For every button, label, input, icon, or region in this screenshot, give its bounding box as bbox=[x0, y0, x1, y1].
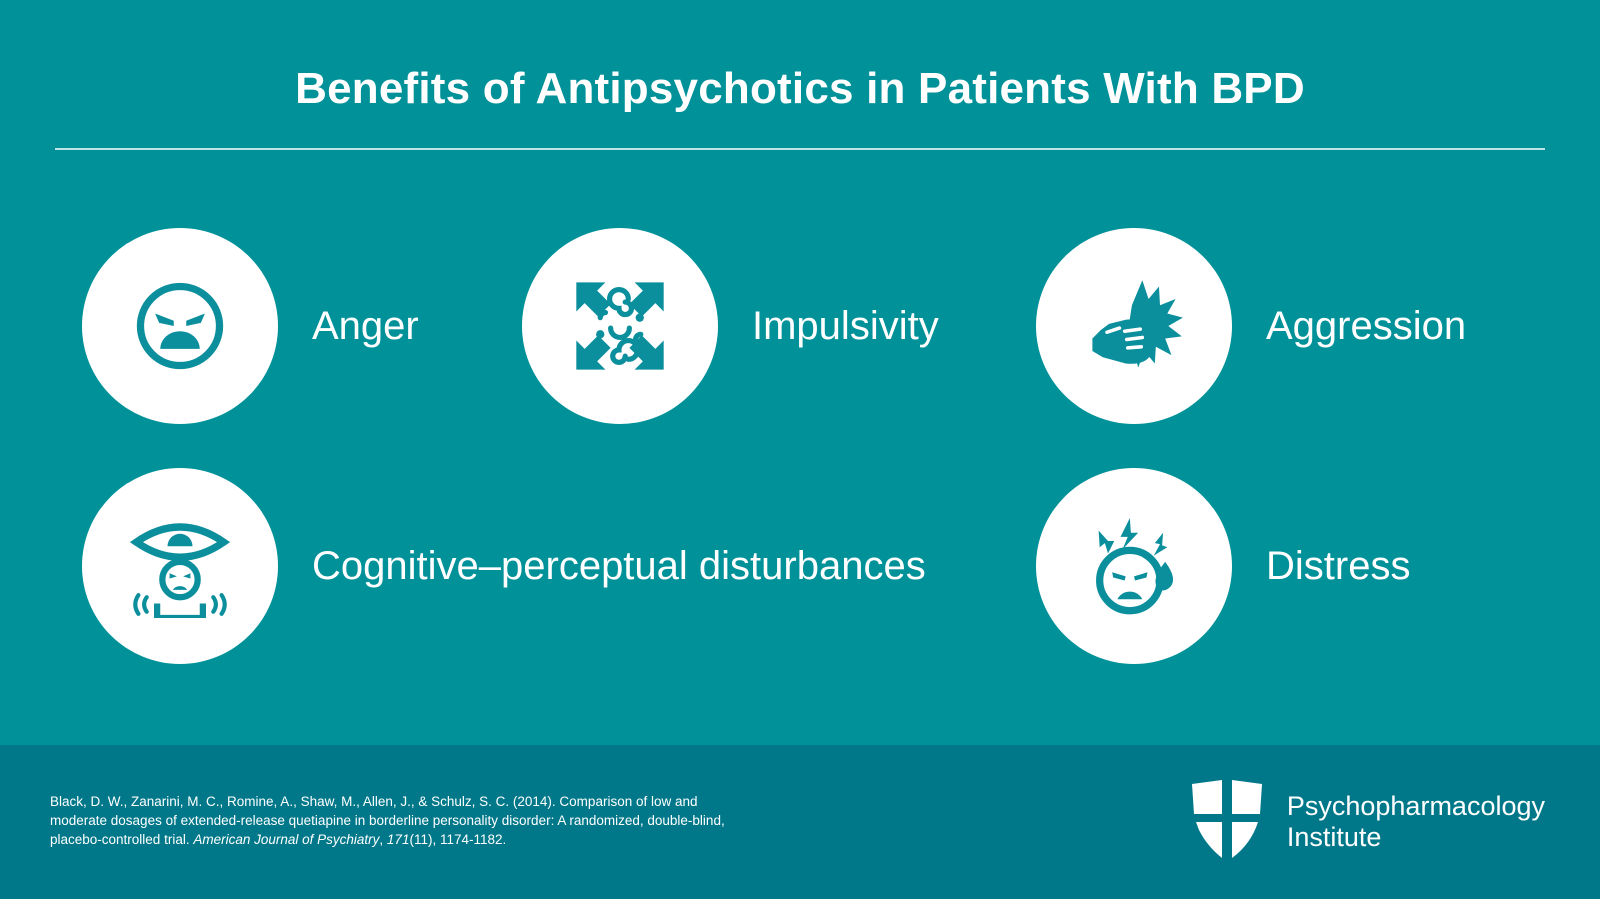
title-divider bbox=[55, 148, 1545, 150]
benefit-label-cognitive-perceptual: Cognitive–perceptual disturbances bbox=[312, 544, 926, 588]
icon-circle-distress bbox=[1036, 468, 1232, 664]
eye-over-face-icon bbox=[128, 514, 232, 618]
title-block: Benefits of Antipsychotics in Patients W… bbox=[0, 64, 1600, 113]
slide-canvas: Benefits of Antipsychotics in Patients W… bbox=[0, 0, 1600, 899]
citation-journal-name: American Journal of Psychiatry bbox=[193, 832, 379, 847]
benefits-row-2: Cognitive–perceptual disturbances bbox=[0, 446, 1600, 686]
benefits-grid: Anger bbox=[0, 206, 1600, 726]
angry-face-icon bbox=[128, 274, 232, 378]
citation-line-1: Black, D. W., Zanarini, M. C., Romine, A… bbox=[50, 794, 671, 809]
four-arrows-outward-icon bbox=[568, 274, 672, 378]
benefit-item-anger: Anger bbox=[82, 206, 419, 446]
footer-bar: Black, D. W., Zanarini, M. C., Romine, A… bbox=[0, 745, 1600, 899]
benefit-label-distress: Distress bbox=[1266, 544, 1410, 588]
citation-volume: 171 bbox=[387, 832, 410, 847]
citation-separator: , bbox=[379, 832, 387, 847]
benefit-label-aggression: Aggression bbox=[1266, 304, 1466, 348]
icon-circle-aggression bbox=[1036, 228, 1232, 424]
icon-circle-cognitive-perceptual bbox=[82, 468, 278, 664]
citation-text: Black, D. W., Zanarini, M. C., Romine, A… bbox=[50, 792, 750, 849]
benefit-label-impulsivity: Impulsivity bbox=[752, 304, 939, 348]
brand-name: Psychopharmacology Institute bbox=[1287, 791, 1545, 854]
icon-circle-anger bbox=[82, 228, 278, 424]
benefit-item-aggression: Aggression bbox=[1036, 206, 1466, 446]
brand-name-line-1: Psychopharmacology bbox=[1287, 791, 1545, 822]
benefit-item-impulsivity: Impulsivity bbox=[522, 206, 939, 446]
brand-name-line-2: Institute bbox=[1287, 822, 1545, 853]
shield-cross-icon bbox=[1189, 778, 1265, 866]
benefit-item-distress: Distress bbox=[1036, 446, 1410, 686]
brand-lockup: Psychopharmacology Institute bbox=[1189, 777, 1545, 867]
fist-impact-icon bbox=[1082, 274, 1186, 378]
distressed-face-icon bbox=[1082, 514, 1186, 618]
benefit-label-anger: Anger bbox=[312, 304, 419, 348]
icon-circle-impulsivity bbox=[522, 228, 718, 424]
benefits-row-1: Anger bbox=[0, 206, 1600, 446]
benefit-item-cognitive-perceptual: Cognitive–perceptual disturbances bbox=[82, 446, 926, 686]
page-title: Benefits of Antipsychotics in Patients W… bbox=[0, 64, 1600, 113]
citation-line-3-suffix: (11), 1174-1182. bbox=[409, 832, 506, 847]
